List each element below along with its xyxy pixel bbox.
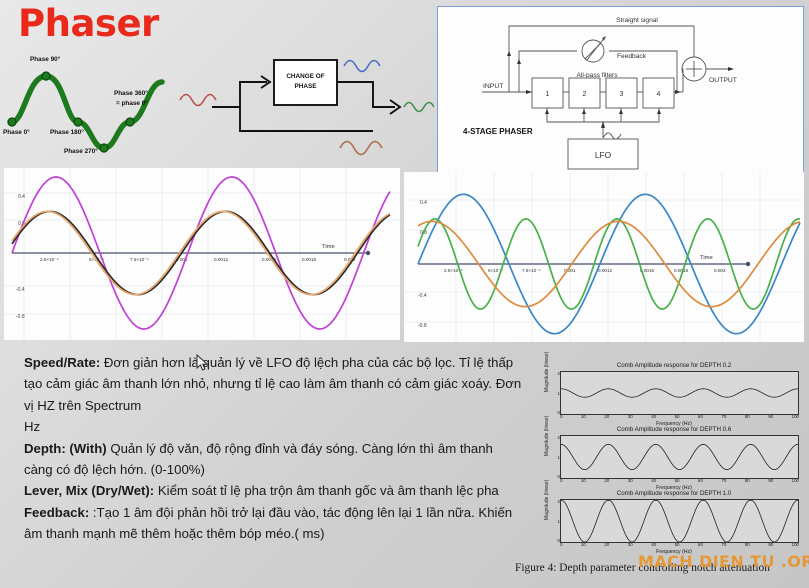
bottom-wave-icon bbox=[340, 142, 382, 155]
phase-0-dot bbox=[8, 118, 16, 126]
comb-response-plot-stack: Comb Amplitude response for DEPTH 0.2 Ma… bbox=[543, 362, 805, 558]
comb-0p6-curve bbox=[561, 444, 798, 469]
left-chart-xtick-0: 2.5×10⁻⁴ bbox=[40, 257, 59, 262]
phase-label-180: Phase 180° bbox=[50, 129, 84, 136]
comb-depth-0p6-panel: Comb Amplitude response for DEPTH 0.6 Ma… bbox=[543, 426, 805, 490]
lower-branch-line bbox=[240, 107, 373, 131]
comb-depth-0p2-panel: Comb Amplitude response for DEPTH 0.2 Ma… bbox=[543, 362, 805, 426]
right-waveform-chart: Time 0.8 0.4 -0.4 -0.8 2.5×10⁻⁴ 5×10⁻⁴ 7… bbox=[404, 172, 804, 342]
comb-0p6-svg bbox=[561, 436, 798, 478]
block-label-line1: CHANGE OF bbox=[286, 73, 324, 80]
comb-1-xtick-5: 50 bbox=[675, 477, 680, 484]
left-waveform-chart: Time 0.8 0.4 -0.4 -0.8 2.5×10⁻⁴ 5×10⁻⁴ 7… bbox=[4, 168, 400, 340]
comb-1-xtick-2: 20 bbox=[604, 477, 609, 484]
phase-180-dot bbox=[74, 118, 82, 126]
block-label-line2: PHASE bbox=[294, 83, 317, 90]
right-chart-xlabel: Time bbox=[700, 255, 713, 261]
mouse-cursor-icon bbox=[196, 354, 209, 372]
change-of-phase-svg: CHANGE OF PHASE bbox=[162, 52, 434, 167]
right-chart-bg bbox=[404, 172, 804, 342]
four-stage-phaser-svg: Straight signal Feedback All-pass filter… bbox=[437, 6, 804, 178]
comb-0-xtick-6: 60 bbox=[698, 413, 703, 420]
comb-1-xtick-8: 80 bbox=[745, 477, 750, 484]
phase-label-0: Phase 0° bbox=[3, 129, 30, 136]
comb-0p2-curve bbox=[561, 389, 798, 397]
comb-0-xtick-1: 10 bbox=[581, 413, 586, 420]
right-chart-ytick-3: -0.8 bbox=[418, 323, 427, 329]
left-waveform-svg: Time 0.8 0.4 -0.4 -0.8 2.5×10⁻⁴ 5×10⁻⁴ 7… bbox=[4, 168, 400, 340]
output-wave-icon bbox=[404, 103, 434, 112]
comb-0-xtick-5: 50 bbox=[675, 413, 680, 420]
page-title: Phaser bbox=[18, 2, 159, 45]
phase-label-270: Phase 270° bbox=[64, 148, 98, 155]
comb-2-xtick-6: 60 bbox=[698, 541, 703, 548]
comb-2-xtick-0: 0 bbox=[560, 541, 562, 548]
right-chart-xtick-2: 7.5×10⁻⁴ bbox=[522, 268, 541, 273]
description-text-block: Speed/Rate: Đơn giản hơn là quản lý về L… bbox=[24, 352, 524, 545]
left-chart-ytick-3: -0.8 bbox=[16, 314, 25, 320]
stage-2-label: 2 bbox=[583, 91, 587, 98]
phase-label-360-alias: = phase 0° bbox=[116, 100, 148, 107]
comb-0p2-xticks: 0102030405060708090100 bbox=[560, 413, 799, 420]
left-chart-xtick-2: 7.5×10⁻⁴ bbox=[130, 257, 149, 262]
stage-1-label: 1 bbox=[546, 91, 550, 98]
comb-0p2-yticks: 2 1 0 bbox=[551, 371, 560, 415]
comb-0p6-plot-area bbox=[560, 435, 799, 479]
comb-0p6-ylabel: Magnitude (linear) bbox=[544, 416, 550, 456]
comb-1p0-title: Comb Amplitude response for DEPTH 1.0 bbox=[543, 490, 805, 497]
comb-0p2-ylabel: Magnitude (linear) bbox=[544, 352, 550, 392]
lever-mix-label: Lever, Mix (Dry/Wet): bbox=[24, 483, 154, 498]
feedback-paragraph: Feedback: :Tạo 1 âm đội phản hồi trở lại… bbox=[24, 502, 524, 545]
left-chart-xtick-6: 0.0018 bbox=[302, 257, 316, 262]
comb-2-xtick-2: 20 bbox=[604, 541, 609, 548]
comb-1-xtick-9: 90 bbox=[768, 477, 773, 484]
comb-1-xtick-4: 40 bbox=[651, 477, 656, 484]
lever-mix-body: Kiểm soát tỉ lệ pha trộn âm thanh gốc và… bbox=[154, 483, 499, 498]
green-sine-curve bbox=[12, 76, 162, 148]
left-chart-ytick-2: -0.4 bbox=[16, 287, 25, 293]
left-axis-end-dot bbox=[366, 251, 370, 255]
speed-rate-paragraph: Speed/Rate: Đơn giản hơn là quản lý về L… bbox=[24, 352, 524, 416]
comb-1-xtick-0: 0 bbox=[560, 477, 562, 484]
slide-canvas: Phaser Phase 90° Phase 0° Phase 180° Pha… bbox=[0, 0, 809, 588]
input-label: INPUT bbox=[483, 83, 503, 90]
comb-1p0-plot-area bbox=[560, 499, 799, 543]
straight-signal-label: Straight signal bbox=[616, 17, 658, 24]
input-wave-icon bbox=[180, 95, 216, 106]
lever-mix-paragraph: Lever, Mix (Dry/Wet): Kiểm soát tỉ lệ ph… bbox=[24, 480, 524, 501]
comb-1p0-ylabel: Magnitude (linear) bbox=[544, 480, 550, 520]
right-waveform-svg: Time 0.8 0.4 -0.4 -0.8 2.5×10⁻⁴ 5×10⁻⁴ 7… bbox=[404, 172, 804, 342]
lfo-label: LFO bbox=[595, 150, 612, 160]
comb-2-xtick-4: 40 bbox=[651, 541, 656, 548]
comb-2-xtick-1: 10 bbox=[581, 541, 586, 548]
comb-1-xtick-1: 10 bbox=[581, 477, 586, 484]
comb-0-xtick-9: 90 bbox=[768, 413, 773, 420]
comb-0p2-svg bbox=[561, 372, 798, 414]
comb-0-xtick-10: 100 bbox=[792, 413, 799, 420]
comb-1p0-curve bbox=[561, 500, 798, 542]
comb-0p6-yticks: 2 1 0 bbox=[551, 435, 560, 479]
comb-1p0-xticks: 0102030405060708090100 bbox=[560, 541, 799, 548]
comb-0p6-xticks: 0102030405060708090100 bbox=[560, 477, 799, 484]
right-chart-ytick-2: -0.4 bbox=[418, 293, 427, 299]
right-chart-xtick-4: 0.0012 bbox=[598, 268, 612, 273]
output-label: OUTPUT bbox=[709, 77, 737, 84]
speed-rate-label: Speed/Rate: bbox=[24, 355, 100, 370]
comb-0-xtick-2: 20 bbox=[604, 413, 609, 420]
feedback-label: Feedback bbox=[617, 53, 647, 60]
left-chart-ytick-top: 0.4 bbox=[18, 194, 25, 200]
comb-0-xtick-7: 70 bbox=[721, 413, 726, 420]
phaser-title-label: 4-STAGE PHASER bbox=[463, 127, 533, 136]
right-chart-ytick-1: 0.4 bbox=[420, 200, 427, 206]
phase-360-dot bbox=[126, 118, 134, 126]
four-stage-phaser-diagram: Straight signal Feedback All-pass filter… bbox=[437, 6, 804, 178]
right-axis-end-dot bbox=[746, 262, 750, 266]
output-join-line bbox=[337, 82, 395, 107]
top-wave-icon bbox=[344, 61, 380, 72]
comb-1-xtick-6: 60 bbox=[698, 477, 703, 484]
comb-2-xtick-5: 50 bbox=[675, 541, 680, 548]
stage-4-label: 4 bbox=[657, 91, 661, 98]
comb-1p0-yticks: 2 1 0 bbox=[551, 499, 560, 543]
comb-0-xtick-8: 80 bbox=[745, 413, 750, 420]
feedback-label: Feedback: bbox=[24, 505, 89, 520]
hz-line: Hz bbox=[24, 416, 524, 437]
comb-2-xtick-9: 90 bbox=[768, 541, 773, 548]
phase-label-360: Phase 360° bbox=[114, 90, 148, 97]
comb-1-xtick-10: 100 bbox=[792, 477, 799, 484]
feedback-body: :Tạo 1 âm đội phản hồi trở lại đầu vào, … bbox=[24, 505, 512, 541]
right-chart-xtick-6: 0.0018 bbox=[674, 268, 688, 273]
phase-label-90: Phase 90° bbox=[30, 56, 60, 63]
phase-sine-diagram: Phase 90° Phase 0° Phase 180° Phase 360°… bbox=[2, 52, 174, 160]
comb-2-xtick-10: 100 bbox=[792, 541, 799, 548]
comb-2-xtick-3: 30 bbox=[628, 541, 633, 548]
comb-0-xtick-0: 0 bbox=[560, 413, 562, 420]
comb-0p2-title: Comb Amplitude response for DEPTH 0.2 bbox=[543, 362, 805, 369]
comb-1p0-svg bbox=[561, 500, 798, 542]
phase-270-dot bbox=[100, 144, 108, 152]
comb-0-xtick-3: 30 bbox=[628, 413, 633, 420]
right-chart-xtick-7: 0.002 bbox=[714, 268, 726, 273]
depth-label: Depth: (With) bbox=[24, 441, 107, 456]
comb-0-xtick-4: 40 bbox=[651, 413, 656, 420]
phase-90-dot bbox=[42, 72, 50, 80]
site-watermark: MACH DIEN TU .ORG bbox=[638, 552, 809, 571]
comb-2-xtick-8: 80 bbox=[745, 541, 750, 548]
comb-0p6-title: Comb Amplitude response for DEPTH 0.6 bbox=[543, 426, 805, 433]
comb-0p2-plot-area bbox=[560, 371, 799, 415]
comb-1-xtick-7: 70 bbox=[721, 477, 726, 484]
left-chart-xlabel: Time bbox=[322, 244, 335, 250]
comb-1-xtick-3: 30 bbox=[628, 477, 633, 484]
stage-3-label: 3 bbox=[620, 91, 624, 98]
comb-depth-1p0-panel: Comb Amplitude response for DEPTH 1.0 Ma… bbox=[543, 490, 805, 554]
phase-sine-svg bbox=[2, 52, 174, 160]
depth-paragraph: Depth: (With) Quản lý độ văn, độ rộng đỉ… bbox=[24, 438, 524, 481]
left-chart-xtick-4: 0.0012 bbox=[214, 257, 228, 262]
change-of-phase-block-diagram: CHANGE OF PHASE bbox=[162, 52, 434, 167]
comb-2-xtick-7: 70 bbox=[721, 541, 726, 548]
